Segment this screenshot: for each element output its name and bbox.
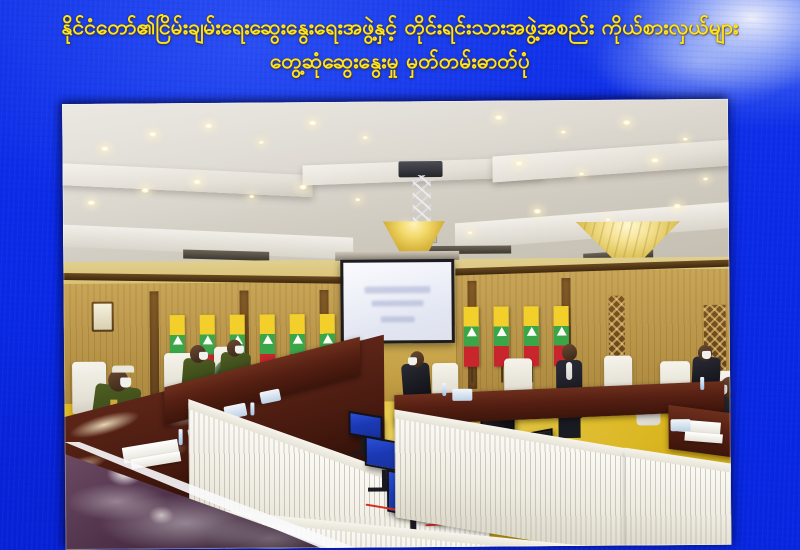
downlight (362, 136, 368, 140)
downlight (100, 146, 109, 152)
water-bottle (442, 383, 446, 396)
projection-screen (340, 259, 455, 344)
downlight (467, 231, 473, 235)
officer-cap (112, 365, 134, 372)
face-mask (408, 357, 417, 365)
downlight (560, 130, 566, 134)
face-mask (702, 351, 711, 359)
tissue-box (452, 389, 472, 401)
downlight (249, 194, 255, 198)
screen-text-line (381, 316, 415, 322)
downlight (299, 184, 308, 190)
headline-line-2: တွေ့ဆုံဆွေးနွေးမှု မှတ်တမ်းဓာတ်ပုံ (18, 44, 782, 78)
face-mask (235, 346, 244, 354)
downlight (622, 120, 631, 126)
photo-scene (62, 99, 731, 550)
downlight (673, 203, 682, 209)
downlight (579, 172, 585, 176)
downlight (308, 120, 317, 126)
downlight (605, 218, 611, 222)
downlight (650, 157, 659, 163)
downlight (204, 123, 213, 129)
wall-panel (149, 291, 159, 395)
screen-text-line (364, 286, 430, 294)
downlight (494, 115, 503, 121)
downlight (355, 198, 361, 202)
downlight (258, 140, 264, 144)
banner-headline: နိုင်ငံတော်၏ငြိမ်းချမ်းရေးဆွေးနွေးရေးအဖွ… (0, 10, 800, 78)
downlight (703, 177, 709, 181)
downlight (682, 137, 688, 141)
face-mask (199, 352, 208, 360)
tissue-box (670, 419, 690, 431)
attendant-legs (558, 416, 580, 438)
myanmar-flag (464, 307, 479, 367)
downlight (87, 200, 96, 206)
wall-sconce-shade (94, 304, 112, 330)
water-bottle (250, 402, 254, 415)
downlight (533, 208, 542, 214)
headline-line-1: နိုင်ငံတော်၏ငြိမ်းချမ်းရေးဆွေးနွေးရေးအဖွ… (18, 10, 782, 44)
downlight (193, 179, 202, 185)
face-mask (120, 377, 131, 387)
attendant-head (562, 344, 577, 361)
downlight (141, 187, 150, 193)
banner-background: နိုင်ငံတော်၏ငြိမ်းချမ်းရေးဆွေးနွေးရေးအဖွ… (0, 0, 800, 550)
meeting-photograph (62, 99, 731, 550)
downlight (514, 160, 523, 166)
downlight (148, 131, 157, 137)
water-bottle (700, 377, 704, 390)
attendant-shirt (566, 362, 572, 380)
screen-text-line (372, 300, 424, 306)
water-bottle (179, 429, 183, 445)
